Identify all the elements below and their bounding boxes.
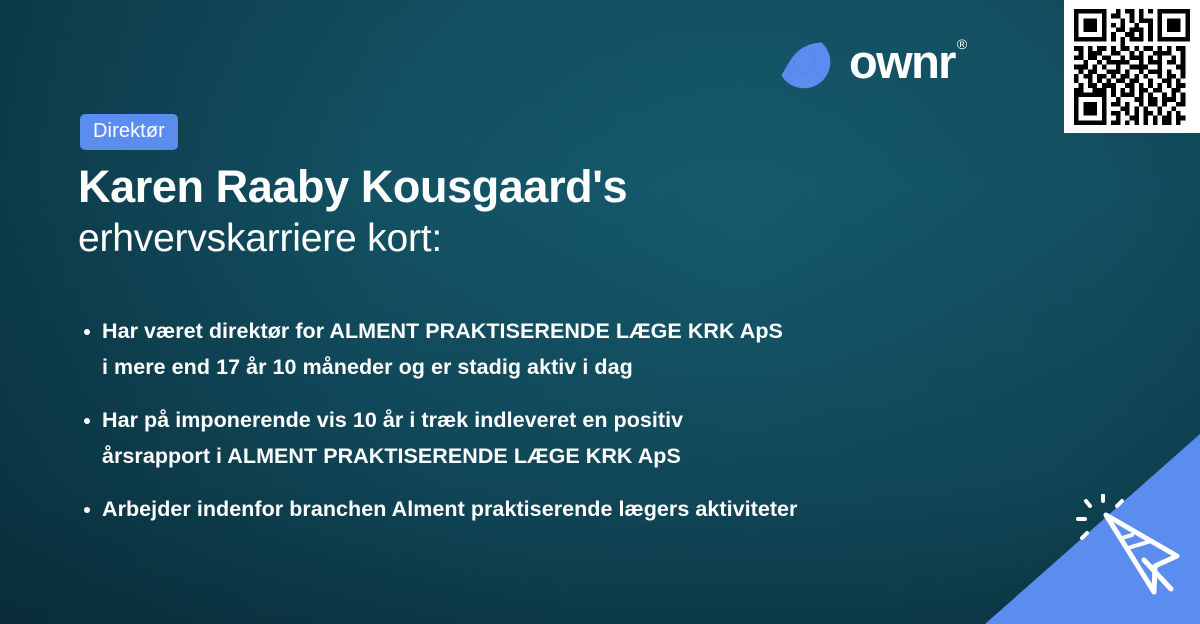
company-profile-card: Direktør Karen Raaby Kousgaard's erhverv… (0, 0, 1200, 624)
qr-code-icon (1074, 9, 1190, 125)
role-badge: Direktør (80, 114, 178, 150)
page-title-line-2: erhvervskarriere kort: (78, 215, 1058, 263)
ownr-wordmark: ownr (849, 38, 955, 85)
list-item-line: Arbejder indenfor branchen Alment prakti… (102, 494, 1040, 525)
page-title-line-1: Karen Raaby Kousgaard's (78, 160, 1058, 213)
career-facts-list: Har været direktør for ALMENT PRAKTISERE… (80, 316, 1040, 525)
qr-code-panel[interactable] (1064, 0, 1200, 133)
bullet-dot-icon (84, 418, 90, 424)
list-item: Har været direktør for ALMENT PRAKTISERE… (80, 316, 1040, 383)
list-item-line: Har været direktør for ALMENT PRAKTISERE… (102, 316, 1040, 347)
ownr-circle-swoosh-icon (775, 33, 833, 91)
page-title: Karen Raaby Kousgaard's erhvervskarriere… (78, 160, 1058, 263)
list-item-line: Har på imponerende vis 10 år i træk indl… (102, 405, 1040, 436)
bullet-dot-icon (84, 507, 90, 513)
bullet-dot-icon (84, 329, 90, 335)
registered-trademark-icon: ® (957, 37, 967, 51)
ownr-logo[interactable]: ownr ® (775, 33, 965, 91)
list-item: Arbejder indenfor branchen Alment prakti… (80, 494, 1040, 525)
click-cursor-icon (1072, 494, 1182, 602)
list-item-line: i mere end 17 år 10 måneder og er stadig… (102, 352, 1040, 383)
list-item: Har på imponerende vis 10 år i træk indl… (80, 405, 1040, 472)
list-item-line: årsrapport i ALMENT PRAKTISERENDE LÆGE K… (102, 441, 1040, 472)
